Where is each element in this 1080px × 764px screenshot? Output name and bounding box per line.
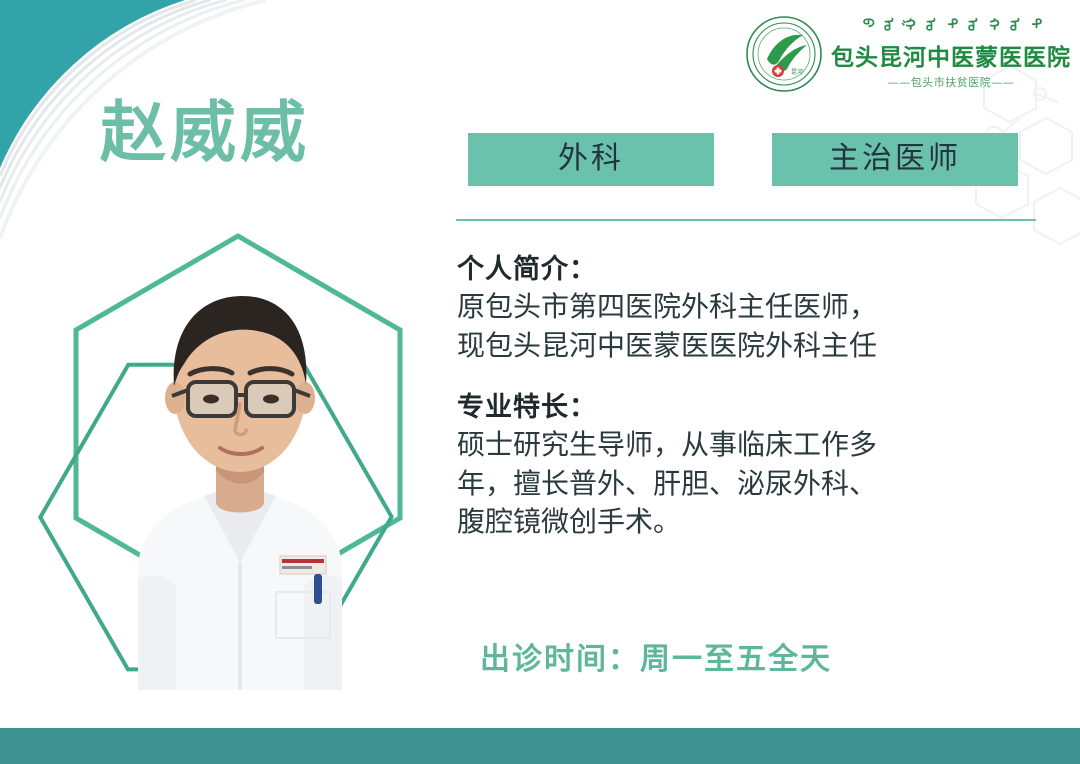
divider xyxy=(456,219,1036,221)
hospital-name: 包头昆河中医蒙医医院 xyxy=(831,45,1071,71)
mongolian-glyph: ᠲ xyxy=(1028,18,1042,28)
hospital-logo: 昆河 ᠪ ᠤ ᠭ ᠣ ᠲ ᠤ ᠬ ᠣ ᠲ 包头昆河中医蒙医医院 ——包头市扶贫医… xyxy=(745,8,1065,100)
mongolian-glyph: ᠭ xyxy=(902,18,916,30)
mongolian-script: ᠪ ᠤ ᠭ ᠣ ᠲ ᠤ ᠬ ᠣ ᠲ xyxy=(860,18,1042,44)
info-section-specialty: 专业特长： 硕士研究生导师，从事临床工作多 年，擅长普外、肝胆、泌尿外科、 腹腔… xyxy=(457,390,1047,542)
section-line: 年，擅长普外、肝胆、泌尿外科、 xyxy=(457,465,1047,504)
section-line: 原包头市第四医院外科主任医师， xyxy=(457,288,1047,327)
mongolian-glyph: ᠣ xyxy=(1007,18,1021,31)
mongolian-glyph: ᠪ xyxy=(860,18,874,28)
doctor-portrait xyxy=(80,240,400,690)
mongolian-glyph: ᠤ xyxy=(965,18,979,31)
info-section-bio: 个人简介： 原包头市第四医院外科主任医师， 现包头昆河中医蒙医医院外科主任 xyxy=(457,252,1047,366)
hospital-subtitle: ——包头市扶贫医院—— xyxy=(888,74,1015,90)
mongolian-glyph: ᠬ xyxy=(986,18,1000,30)
section-heading: 专业特长： xyxy=(457,390,1047,426)
doctor-portrait-frame xyxy=(28,218,448,708)
svg-text:昆河: 昆河 xyxy=(791,68,803,76)
hospital-emblem-icon: 昆河 xyxy=(745,15,823,93)
section-line: 腹腔镜微创手术。 xyxy=(457,503,1047,542)
bottom-bar xyxy=(0,728,1080,764)
badge-group: 外科 主治医师 xyxy=(468,133,1018,186)
mongolian-glyph: ᠣ xyxy=(923,18,937,31)
section-heading: 个人简介： xyxy=(457,252,1047,288)
doctor-profile-card: 昆河 ᠪ ᠤ ᠭ ᠣ ᠲ ᠤ ᠬ ᠣ ᠲ 包头昆河中医蒙医医院 ——包头市扶贫医… xyxy=(0,0,1080,764)
doctor-name: 赵威威 xyxy=(100,100,310,166)
section-line: 现包头昆河中医蒙医医院外科主任 xyxy=(457,327,1047,366)
section-line: 硕士研究生导师，从事临床工作多 xyxy=(457,426,1047,465)
badge-department: 外科 xyxy=(468,133,714,186)
mongolian-glyph: ᠤ xyxy=(881,18,895,31)
badge-title: 主治医师 xyxy=(772,133,1018,186)
mongolian-glyph: ᠲ xyxy=(944,18,958,28)
consultation-schedule: 出诊时间：周一至五全天 xyxy=(480,634,832,678)
info-sections: 个人简介： 原包头市第四医院外科主任医师， 现包头昆河中医蒙医医院外科主任 专业… xyxy=(457,252,1047,542)
